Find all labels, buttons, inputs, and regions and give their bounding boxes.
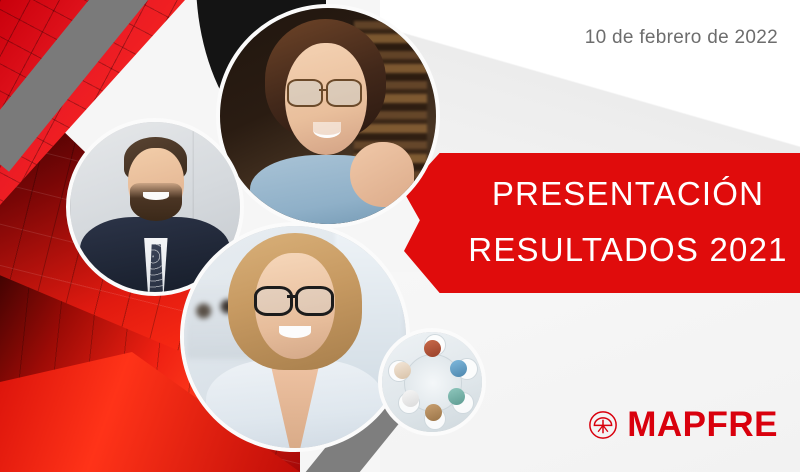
photo-glasses-left-lens [287,79,323,107]
photo-hand [350,142,415,207]
presentation-slide: PRESENTACIÓN RESULTADOS 2021 10 de febre… [0,0,800,472]
mapfre-logo: MAPFRE [588,407,778,442]
photo-blonde-woman [180,222,410,452]
title-block: PRESENTACIÓN RESULTADOS 2021 [468,166,788,278]
title-line-1: PRESENTACIÓN [468,166,788,222]
photo-person [450,360,467,377]
photo-glasses-left-lens [254,286,293,316]
photo-smile [279,326,310,338]
photo-glasses-right-lens [326,79,362,107]
photo-woman-with-glasses [216,4,440,228]
photo-person [425,404,442,421]
mapfre-emblem-icon [588,410,618,440]
presentation-date: 10 de febrero de 2022 [585,27,778,49]
title-line-2: RESULTADOS 2021 [468,222,788,278]
photo-person [424,340,441,357]
mapfre-wordmark: MAPFRE [627,407,778,442]
photo-person [402,390,419,407]
photo-beard [130,183,183,220]
photo-person [448,388,465,405]
photo-person [394,362,411,379]
photo-glasses-right-lens [295,286,334,316]
photo-glasses-bridge [287,295,296,298]
photo-glasses-bridge [319,89,327,91]
photo-team-meeting [378,328,486,436]
photo-smile [143,192,169,201]
